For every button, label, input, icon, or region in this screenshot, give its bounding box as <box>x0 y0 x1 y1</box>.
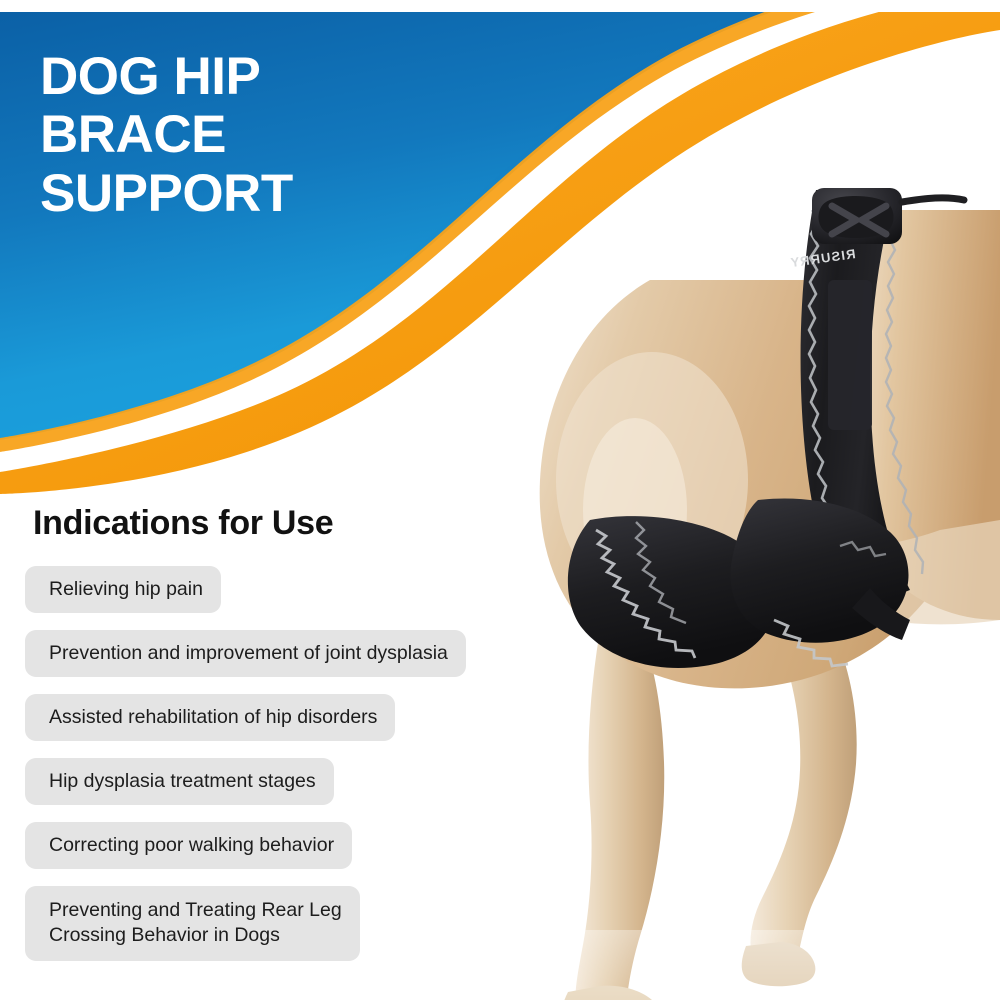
brace-velcro-patch <box>828 280 872 430</box>
product-photo: RISURRY <box>440 150 1000 1000</box>
page-title: DOG HIP BRACE SUPPORT <box>40 48 460 223</box>
indications-list: Relieving hip pain Prevention and improv… <box>25 566 505 978</box>
indication-item-2: Prevention and improvement of joint dysp… <box>25 630 466 677</box>
indication-text-line-2: Crossing Behavior in Dogs <box>49 923 342 948</box>
indication-item-6: Preventing and Treating Rear LegCrossing… <box>25 886 360 961</box>
indication-text-line-1: Preventing and Treating Rear Leg <box>49 898 342 923</box>
indication-item-4: Hip dysplasia treatment stages <box>25 758 334 805</box>
headline-line-2: BRACE <box>40 106 460 164</box>
headline-line-3: SUPPORT <box>40 165 460 223</box>
indication-text: Correcting poor walking behavior <box>49 833 334 858</box>
indications-heading: Indications for Use <box>33 504 333 543</box>
product-marketing-poster: RISURRY <box>0 0 1000 1000</box>
indication-text: Prevention and improvement of joint dysp… <box>49 641 448 666</box>
indication-text: Assisted rehabilitation of hip disorders <box>49 705 377 730</box>
indication-item-1: Relieving hip pain <box>25 566 221 613</box>
indication-text: Relieving hip pain <box>49 577 203 602</box>
indication-item-3: Assisted rehabilitation of hip disorders <box>25 694 395 741</box>
indication-item-5: Correcting poor walking behavior <box>25 822 352 869</box>
indication-text: Hip dysplasia treatment stages <box>49 769 316 794</box>
headline-line-1: DOG HIP <box>40 48 460 106</box>
top-white-strip <box>0 0 1000 12</box>
brace-tail-strap <box>902 198 964 202</box>
